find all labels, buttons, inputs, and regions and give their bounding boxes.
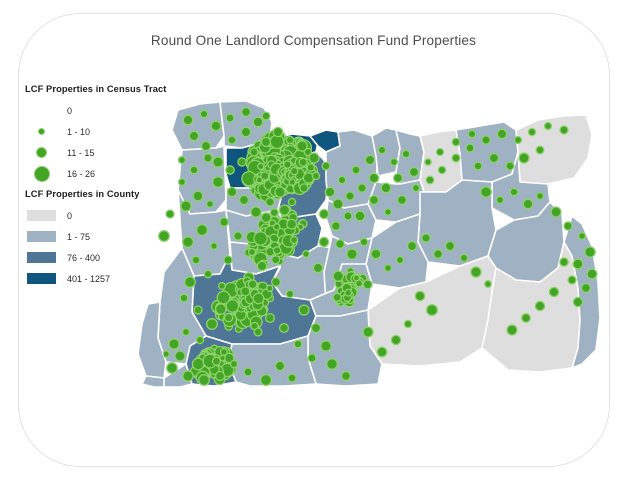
property-dot [535,301,544,310]
property-dot [185,277,196,288]
property-dot [313,263,322,272]
swatch-class-0-icon [25,209,58,222]
property-dot [391,159,398,166]
property-dot [275,187,285,197]
property-dot [179,157,186,164]
property-dot [204,154,212,162]
property-dot [272,278,281,287]
property-dot [299,158,307,166]
property-dot [238,158,246,166]
property-dot [385,209,392,216]
property-dot [481,187,492,198]
property-dot [303,251,310,258]
property-dot [452,154,460,162]
property-dot [363,280,372,289]
property-dot [425,159,431,165]
property-dot [183,115,193,125]
legend-item: 0 [25,205,140,226]
property-dot [284,161,291,168]
property-dot [551,207,561,217]
property-dot [528,128,535,135]
legend-item: 401 - 1257 [25,268,140,289]
property-dot [221,349,228,356]
property-dot [253,293,264,304]
property-dot [244,368,252,376]
property-dot [490,154,499,163]
property-dot [267,285,273,291]
property-dot [211,121,221,131]
property-dot [287,219,297,229]
property-dot [360,238,367,245]
property-dot [225,314,233,322]
property-dot [273,247,280,254]
property-dot [266,198,274,206]
property-dot [585,247,595,257]
property-dot [333,293,341,301]
property-dot [560,126,568,134]
property-dot [286,136,293,143]
legend-census-tract-title: LCF Properties in Census Tract [25,84,166,94]
property-dot [536,146,544,154]
legend-item: 16 - 26 [25,163,166,184]
property-dot [312,172,319,179]
property-dot [192,256,200,264]
property-dot [358,184,366,192]
property-dot [183,371,193,381]
property-dot [261,213,271,223]
property-dot [338,176,345,183]
property-dot [327,359,338,370]
property-dot [587,269,597,279]
property-dot [291,167,298,174]
oregon-county-map-svg: .c0 { fill:#dedede; } .c1 { fill:#9fb2c4… [120,96,620,466]
property-dot [207,319,218,330]
property-dot [258,163,264,169]
property-dot [217,291,230,304]
swatch-class-3-icon [25,272,58,285]
property-dot [213,157,223,167]
property-dot [197,225,208,236]
property-dot [579,233,586,240]
property-dot [175,351,185,361]
property-dot [180,294,188,302]
property-dot [216,304,226,314]
property-dot [261,375,272,386]
property-dot [190,166,198,174]
property-dot [381,183,391,193]
property-dot [515,137,522,144]
property-dot [159,231,170,242]
property-dot [582,284,591,293]
legend-county-title: LCF Properties in County [25,189,140,199]
legend-item-label: 1 - 75 [67,232,90,242]
legend-county: LCF Properties in County 0 1 - 75 76 - 4… [25,189,140,289]
property-dot [286,290,293,297]
legend-item-label: 0 [67,106,72,116]
property-dot [537,193,544,200]
property-dot [344,212,352,220]
property-dot [204,270,211,277]
property-dot [355,211,365,221]
property-dot [194,306,202,314]
property-dot [352,166,360,174]
property-dot [230,360,237,367]
legend-item: 76 - 400 [25,247,140,268]
county-klamath [228,336,316,386]
property-dot [333,199,343,209]
property-dot [427,305,438,316]
property-dot [519,153,529,163]
property-dot [308,354,316,362]
property-dot [169,339,179,349]
property-dot [240,196,249,205]
property-dot [506,162,514,170]
property-dot [322,162,330,170]
property-dot [347,249,357,259]
property-dot [497,129,506,138]
property-dot [369,173,378,182]
property-dot [183,237,194,248]
map-canvas: .c0 { fill:#dedede; } .c1 { fill:#9fb2c4… [120,96,620,466]
symbol-circle-small-icon [25,128,58,135]
property-dot [415,291,424,300]
legend-item: 1 - 75 [25,226,140,247]
property-dot [253,117,263,127]
property-dot [300,184,308,192]
property-dot [446,242,455,251]
property-dot [482,136,490,144]
legend-item: 11 - 15 [25,142,166,163]
property-dot [320,210,329,219]
swatch-class-1-icon [25,230,58,243]
property-dot [363,327,373,337]
property-dot [289,179,295,185]
swatch-class-2-icon [25,251,58,264]
property-dot [522,314,531,323]
property-dot [226,114,234,122]
property-dot [466,144,474,152]
legend-item-label: 1 - 10 [67,127,90,137]
property-dot [573,297,582,306]
property-dot [262,138,271,147]
property-dot [319,237,328,246]
property-dot [280,324,289,333]
property-dot [474,162,482,170]
property-dot [402,150,409,157]
property-dot [378,146,385,153]
property-dot [199,375,210,386]
property-dot [291,237,298,244]
property-dot [549,287,558,296]
property-dot [254,232,267,245]
property-dot [219,283,226,290]
property-dot [294,340,302,348]
property-dot [336,240,345,249]
property-dot [224,256,232,264]
property-dot [438,166,445,173]
property-dot [234,232,242,240]
property-dot [413,185,420,192]
property-dot [211,243,218,250]
property-dot [468,130,475,137]
property-dot [460,254,467,261]
property-dot [385,265,392,272]
property-dot [241,127,250,136]
property-dot [564,222,572,230]
property-dot [227,187,236,196]
legend-item-label: 401 - 1257 [67,274,110,284]
property-dot [398,196,407,205]
property-dot [342,372,351,381]
symbol-circle-medium-icon [25,147,58,158]
property-dot [207,201,214,208]
property-dot [354,275,360,281]
property-dot [307,164,314,171]
property-dot [394,174,403,183]
property-dot [523,199,533,209]
property-dot [545,123,552,130]
property-dot [216,372,225,381]
property-dot [452,138,460,146]
property-dot [312,324,321,333]
property-dot [254,328,262,336]
legend-item: 0 [25,100,166,121]
property-dot [391,335,400,344]
legend-item-label: 16 - 26 [67,169,95,179]
property-dot [261,172,269,180]
property-dot [196,336,203,343]
legend-census-tract: LCF Properties in Census Tract 0 1 - 10 … [25,84,166,184]
property-dot [183,329,190,336]
property-dot [250,148,258,156]
property-dot [249,249,256,256]
property-dot [426,176,434,184]
property-dot [333,271,343,281]
property-dot [297,141,307,151]
property-dot [365,155,374,164]
property-dot [471,267,481,277]
property-dot [288,198,295,205]
property-dot [167,363,178,374]
property-dot [332,222,341,231]
county-wallowa [516,115,592,184]
property-dot [273,127,282,136]
property-dot [220,218,229,227]
property-dot [404,320,411,327]
property-dot [510,188,517,195]
property-dot [408,242,417,251]
property-dot [299,305,309,315]
property-dot [345,289,352,296]
symbol-circle-large-icon [25,166,58,182]
property-dot [321,341,331,351]
property-dot [434,250,443,259]
property-dot [371,249,381,259]
property-dot [266,314,275,323]
property-dot [251,207,261,217]
property-dot [248,280,257,289]
property-dot [560,258,568,266]
property-dot [370,196,379,205]
property-dot [275,361,284,370]
county-umatilla [456,122,518,182]
property-dot [422,234,430,242]
property-dot [346,192,354,200]
property-dot [242,108,251,117]
property-dot [377,347,387,357]
property-dot [397,257,404,264]
map-figure: Round One Landlord Compensation Fund Pro… [0,0,627,479]
property-dot [200,110,207,117]
property-dot [573,259,583,269]
property-dot [179,179,186,186]
legend-item-label: 11 - 15 [67,148,94,158]
property-dot [272,256,280,264]
property-dot [325,187,334,196]
property-dot [202,142,211,151]
legend-item-label: 0 [67,211,72,221]
property-dot [507,325,517,335]
property-dot [437,149,444,156]
property-dot [212,357,220,365]
property-dot [568,276,576,284]
legend-item: 1 - 10 [25,121,166,142]
property-dot [193,191,203,201]
property-dot [309,153,319,163]
property-dot [280,205,290,215]
property-dot [288,374,296,382]
property-dot [192,358,204,370]
property-dot [497,197,504,204]
property-dot [485,281,492,288]
legend-item-label: 76 - 400 [67,253,100,263]
property-dot [257,261,266,270]
property-dot [166,210,174,218]
property-dot [189,131,198,140]
property-dot [213,177,224,188]
property-dot [226,166,234,174]
page-title: Round One Landlord Compensation Fund Pro… [0,33,627,48]
property-dot [228,136,236,144]
property-dot [273,224,279,230]
property-dot [410,168,419,177]
property-dot [181,201,191,211]
property-dot [262,112,270,120]
